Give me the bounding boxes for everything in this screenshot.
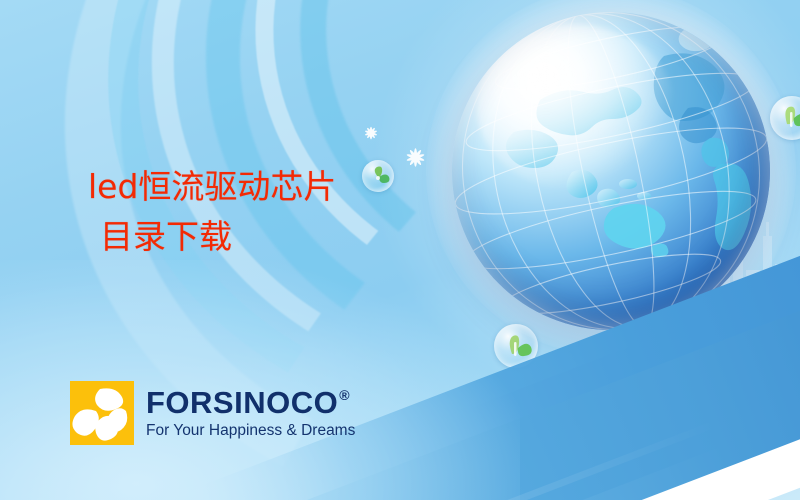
flower-decoration-1-icon <box>362 124 380 142</box>
bubble-leaf-3 <box>770 96 800 140</box>
headline-line-1: led恒流驱动芯片 <box>88 167 336 206</box>
logo-tagline: For Your Happiness & Dreams <box>146 423 355 439</box>
logo-company-name: FORSINOCO ® <box>146 387 355 418</box>
slide-canvas: led恒流驱动芯片 目录下载 FORSINOCO ® For Your Happ… <box>0 0 800 500</box>
headline-line-2: 目录下载 <box>88 212 336 262</box>
lower-left-haze <box>0 260 520 500</box>
logo-mark-icon <box>70 381 134 445</box>
company-logo[interactable]: FORSINOCO ® For Your Happiness & Dreams <box>70 381 355 445</box>
logo-text-block: FORSINOCO ® For Your Happiness & Dreams <box>146 387 355 439</box>
headline-text: led恒流驱动芯片 目录下载 <box>88 162 336 262</box>
bubble-leaf-1 <box>362 160 394 192</box>
flower-decoration-2-icon <box>404 146 427 169</box>
registered-trademark-icon: ® <box>339 388 350 402</box>
logo-company-name-text: FORSINOCO <box>146 387 338 418</box>
